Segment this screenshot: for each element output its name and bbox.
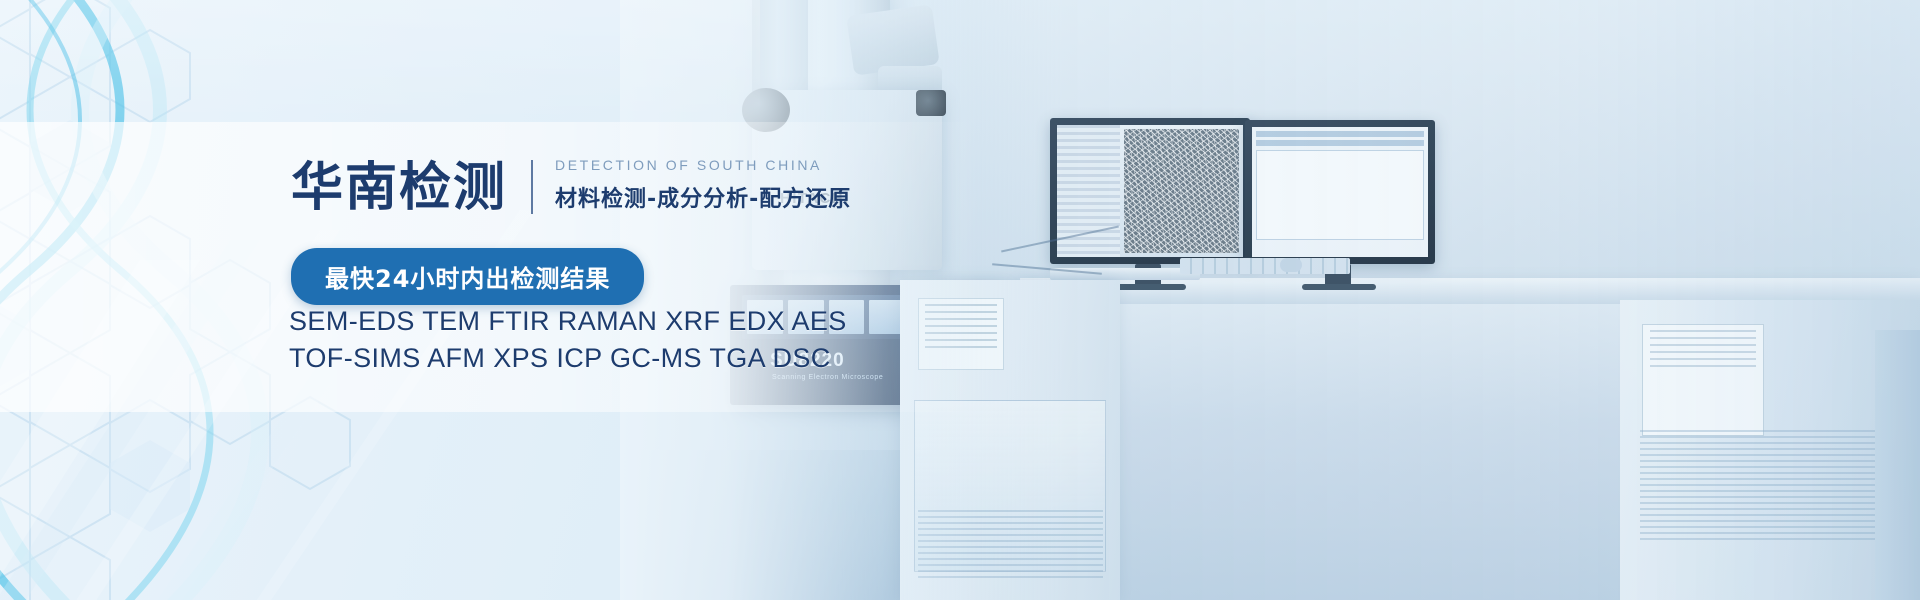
brand-title-row: 华南检测 DETECTION OF SOUTH CHINA 材料检测-成分分析-… (291, 157, 851, 216)
technique-list: SEM-EDS TEM FTIR RAMAN XRF EDX AES TOF-S… (289, 303, 847, 377)
technique-line: TOF-SIMS AFM XPS ICP GC-MS TGA DSC (289, 340, 847, 377)
subtitle-english: DETECTION OF SOUTH CHINA (555, 157, 851, 173)
subtitle-chinese: 材料检测-成分分析-配方还原 (555, 181, 851, 213)
hero-banner: HITACHI SU8220 Scanning Electron Microsc… (0, 0, 1920, 600)
title-divider (531, 160, 533, 214)
brand-name: 华南检测 (291, 160, 507, 216)
technique-line: SEM-EDS TEM FTIR RAMAN XRF EDX AES (289, 303, 847, 340)
subtitle-column: DETECTION OF SOUTH CHINA 材料检测-成分分析-配方还原 (555, 157, 851, 216)
turnaround-badge[interactable]: 最快24小时内出检测结果 (291, 248, 644, 305)
banner-content: 华南检测 DETECTION OF SOUTH CHINA 材料检测-成分分析-… (0, 0, 1920, 600)
